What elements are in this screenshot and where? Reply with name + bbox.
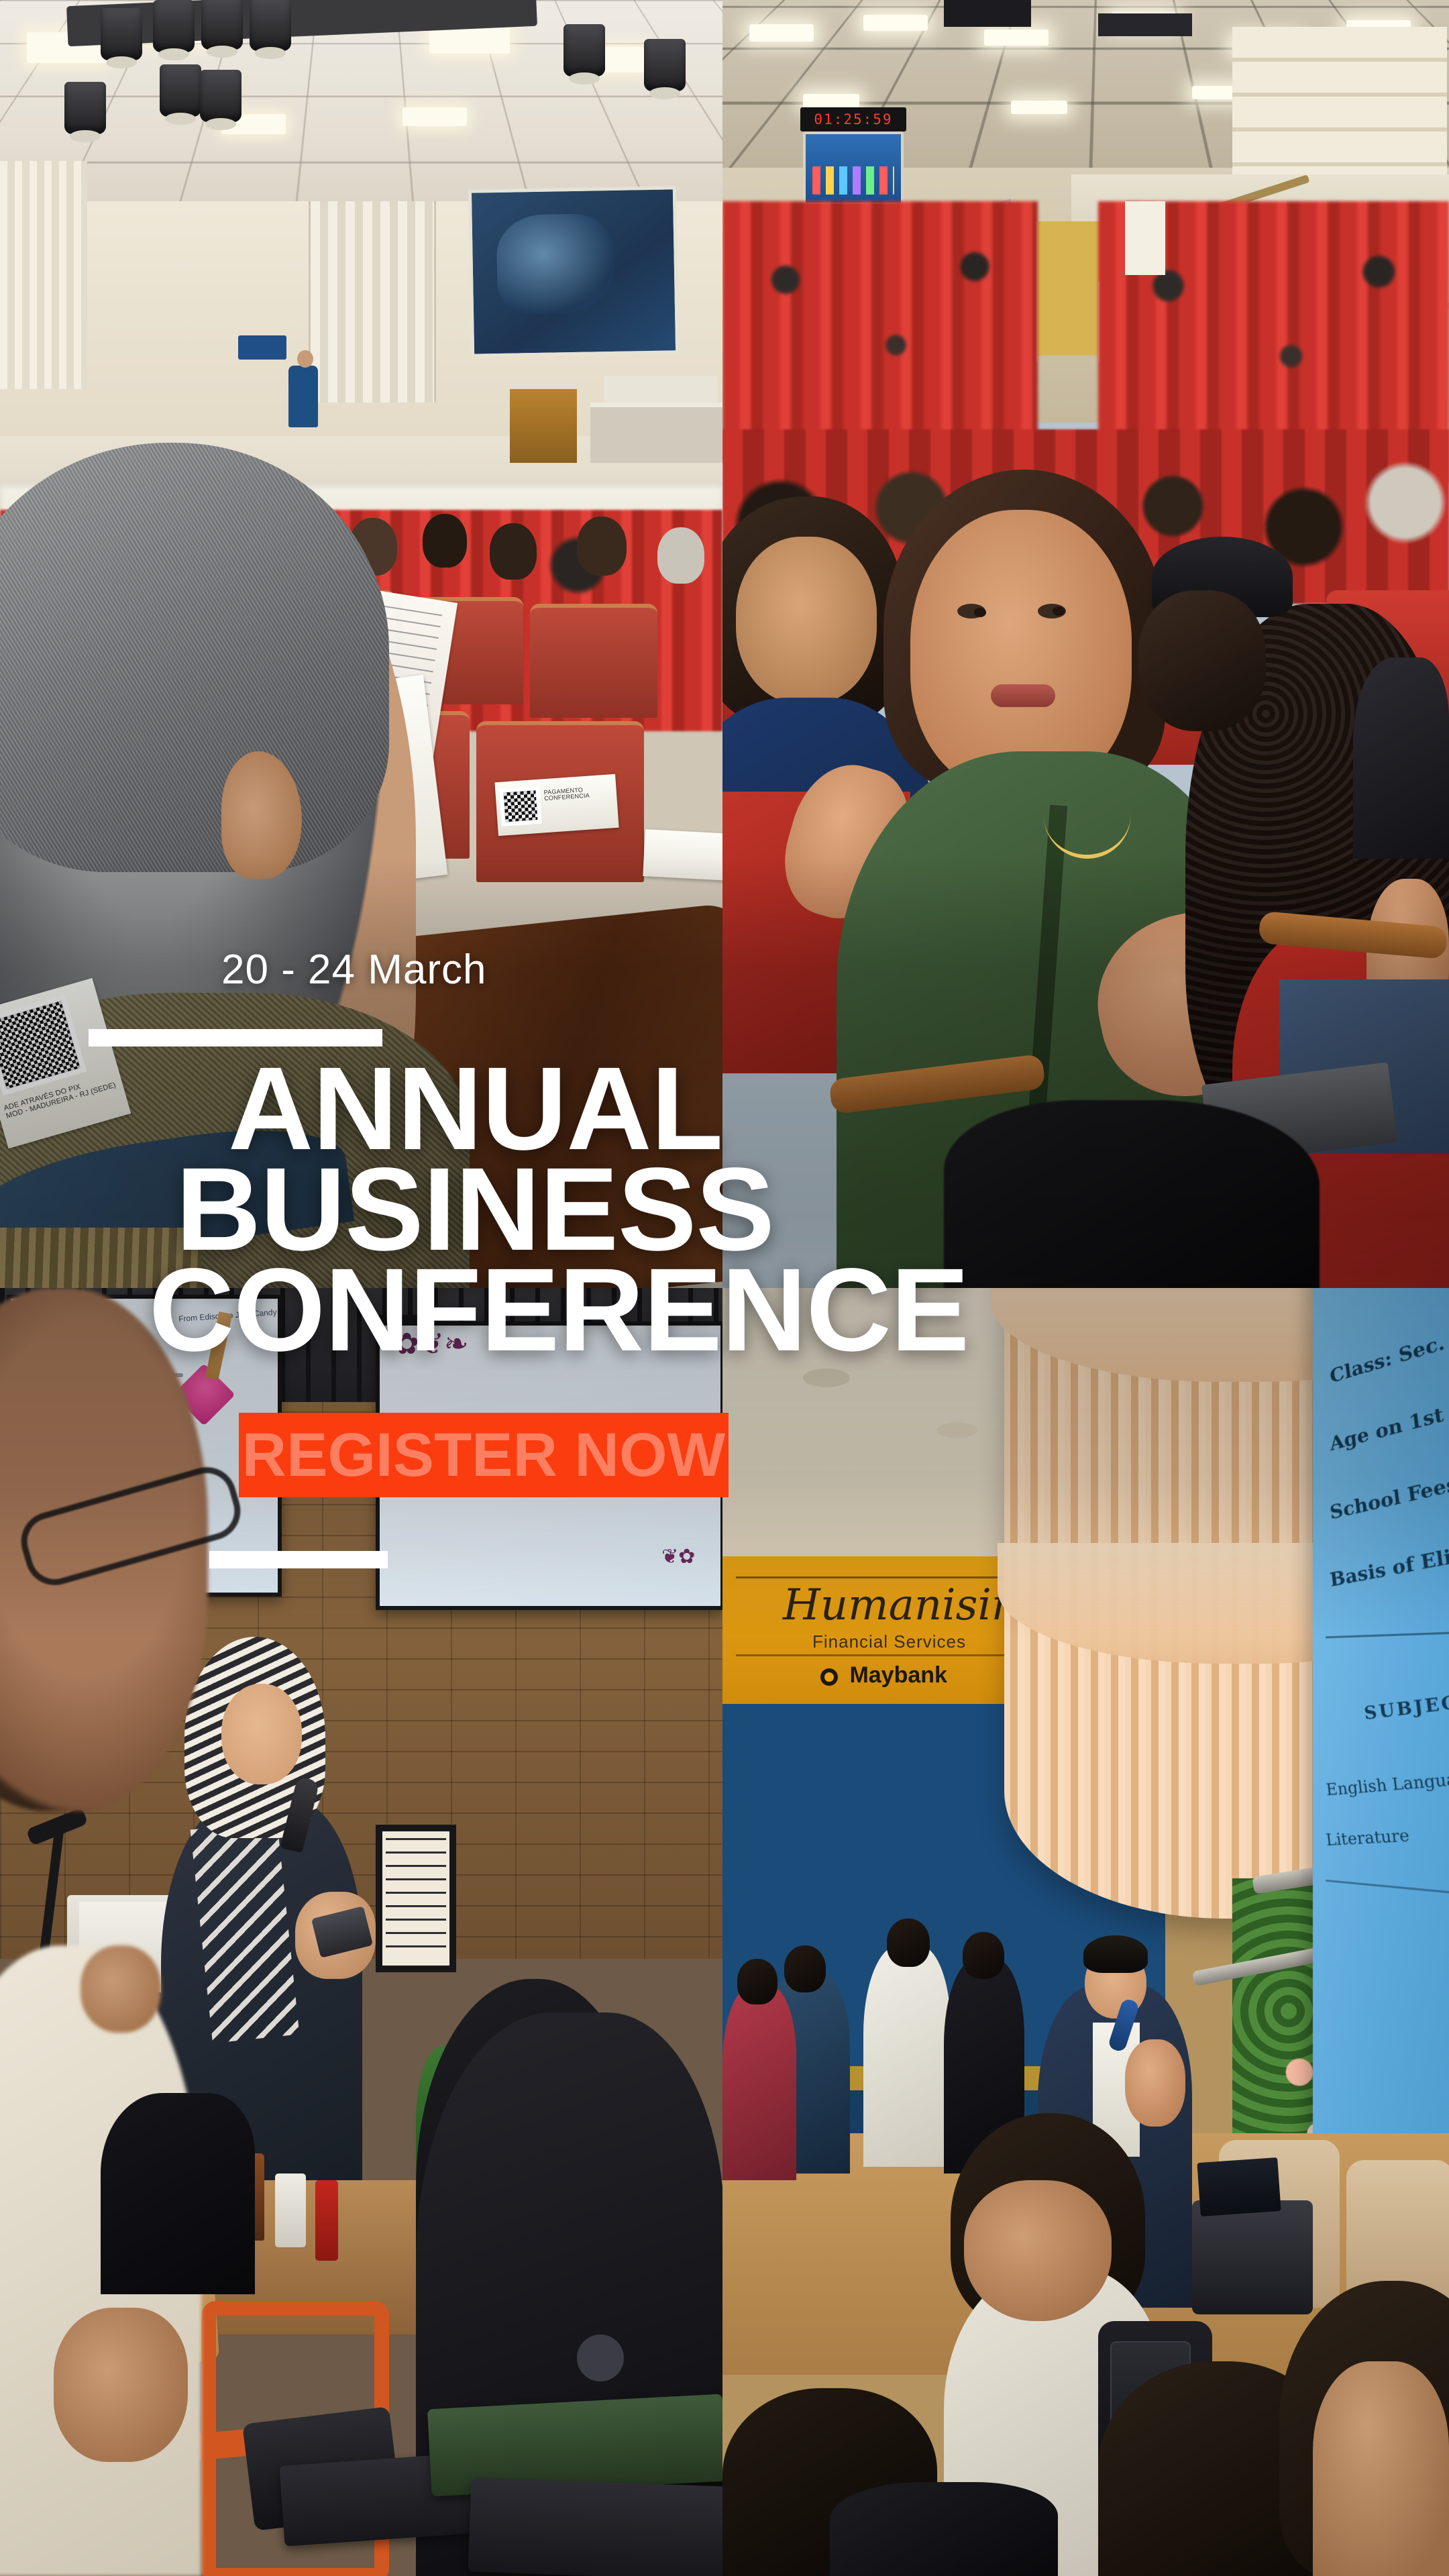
register-now-label: REGISTER NOW (242, 1424, 726, 1486)
page-title: ANNUAL BUSINESS CONFERENCE (0, 1059, 1449, 1360)
poster-text-overlay: 20 - 24 March ANNUAL BUSINESS CONFERENCE… (0, 0, 1449, 2576)
conference-promo-poster: PAGAMENTO CONFERENCIA (0, 0, 1449, 2576)
divider-rule-bottom (209, 1551, 388, 1568)
register-now-button[interactable]: REGISTER NOW (239, 1413, 729, 1497)
headline-line-3: CONFERENCE (149, 1260, 1449, 1360)
event-date: 20 - 24 March (221, 946, 487, 994)
